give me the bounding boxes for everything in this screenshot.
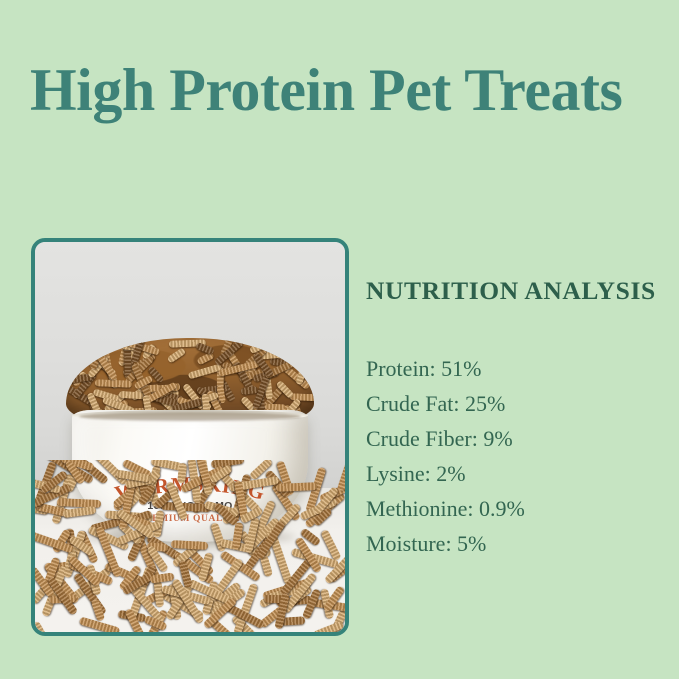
mealworm	[337, 460, 345, 492]
mealworm	[276, 482, 318, 492]
nutrition-item: Methionine: 0.9%	[366, 491, 666, 526]
mealworm	[95, 379, 132, 387]
product-infographic: High Protein Pet Treats WORMSKING 100% N…	[0, 0, 679, 679]
nutrition-panel: NUTRITION ANALYSIS Protein: 51%Crude Fat…	[366, 276, 666, 561]
mealworm	[167, 348, 186, 364]
nutrition-item: Crude Fiber: 9%	[366, 421, 666, 456]
mealworm	[154, 580, 164, 606]
scattered-mealworms	[35, 460, 345, 632]
product-photo: WORMSKING 100% NON-GMO PREMIUM QUALITY	[35, 242, 345, 632]
nutrition-heading: NUTRITION ANALYSIS	[366, 276, 666, 306]
nutrition-item: Crude Fat: 25%	[366, 386, 666, 421]
page-title: High Protein Pet Treats	[30, 58, 670, 122]
mealworm	[281, 616, 305, 625]
nutrition-item: Moisture: 5%	[366, 526, 666, 561]
mealworm	[150, 573, 175, 584]
mealworm	[210, 522, 227, 552]
nutrition-list: Protein: 51%Crude Fat: 25%Crude Fiber: 9…	[366, 351, 666, 561]
mealworm	[171, 540, 208, 550]
nutrition-item: Lysine: 2%	[366, 456, 666, 491]
bowl-inner-shadow	[79, 412, 300, 421]
mealworm	[196, 342, 215, 355]
mealworm	[178, 462, 188, 483]
nutrition-item: Protein: 51%	[366, 351, 666, 386]
mealworm	[35, 621, 50, 632]
product-photo-frame: WORMSKING 100% NON-GMO PREMIUM QUALITY	[31, 238, 349, 636]
